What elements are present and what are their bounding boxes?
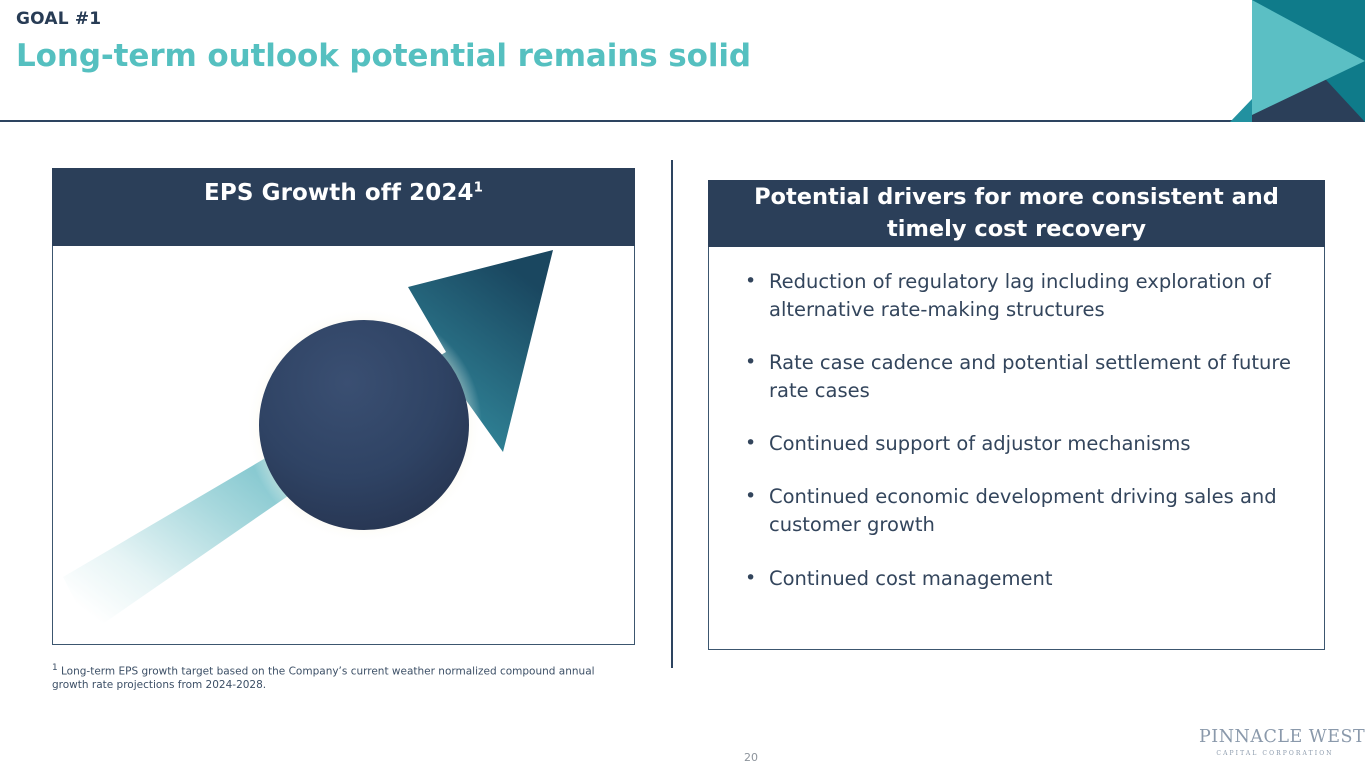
bullet-icon: • [739,565,769,593]
corner-triangle-graphic [1230,0,1365,122]
list-item: • Continued cost management [739,565,1302,593]
eps-growth-panel: EPS Growth off 20241 [52,168,635,645]
list-item: • Rate case cadence and potential settle… [739,349,1302,405]
cost-recovery-drivers-panel: Potential drivers for more consistent an… [708,180,1325,650]
panel-divider [671,160,673,668]
eps-panel-body [53,247,634,643]
brand-logo-tagline: CAPITAL CORPORATION [1199,750,1351,757]
list-item-label: Rate case cadence and potential settleme… [769,349,1302,405]
list-item: • Reduction of regulatory lag including … [739,268,1302,324]
bullet-icon: • [739,268,769,324]
drivers-list: • Reduction of regulatory lag including … [709,248,1324,618]
slide-header: GOAL #1 Long-term outlook potential rema… [0,0,1365,122]
eps-footnote: 1 Long-term EPS growth target based on t… [52,663,612,693]
eps-panel-title-footnote-marker: 1 [474,180,483,195]
footnote-text: Long-term EPS growth target based on the… [52,666,595,692]
bullet-icon: • [739,483,769,539]
list-item-label: Continued cost management [769,565,1302,593]
page-number: 20 [744,751,758,764]
goal-eyebrow-label: GOAL #1 [16,9,101,29]
brand-logo: PINNACLE WEST CAPITAL CORPORATION [1199,729,1351,757]
eps-growth-arrow-graphic [53,247,634,643]
list-item-label: Reduction of regulatory lag including ex… [769,268,1302,324]
page-title: Long-term outlook potential remains soli… [16,38,751,74]
list-item: • Continued support of adjustor mechanis… [739,430,1302,458]
eps-panel-header: EPS Growth off 20241 [52,168,635,246]
brand-logo-name: PINNACLE WEST [1199,729,1351,747]
drivers-panel-header: Potential drivers for more consistent an… [708,180,1325,247]
bullet-icon: • [739,349,769,405]
eps-panel-title: EPS Growth off 20241 [204,180,483,206]
eps-panel-title-text: EPS Growth off 2024 [204,180,474,206]
cagr-circle [259,320,469,530]
drivers-panel-title: Potential drivers for more consistent an… [714,182,1319,244]
list-item-label: Continued support of adjustor mechanisms [769,430,1302,458]
list-item: • Continued economic development driving… [739,483,1302,539]
bullet-icon: • [739,430,769,458]
header-divider-rule [0,120,1365,122]
list-item-label: Continued economic development driving s… [769,483,1302,539]
